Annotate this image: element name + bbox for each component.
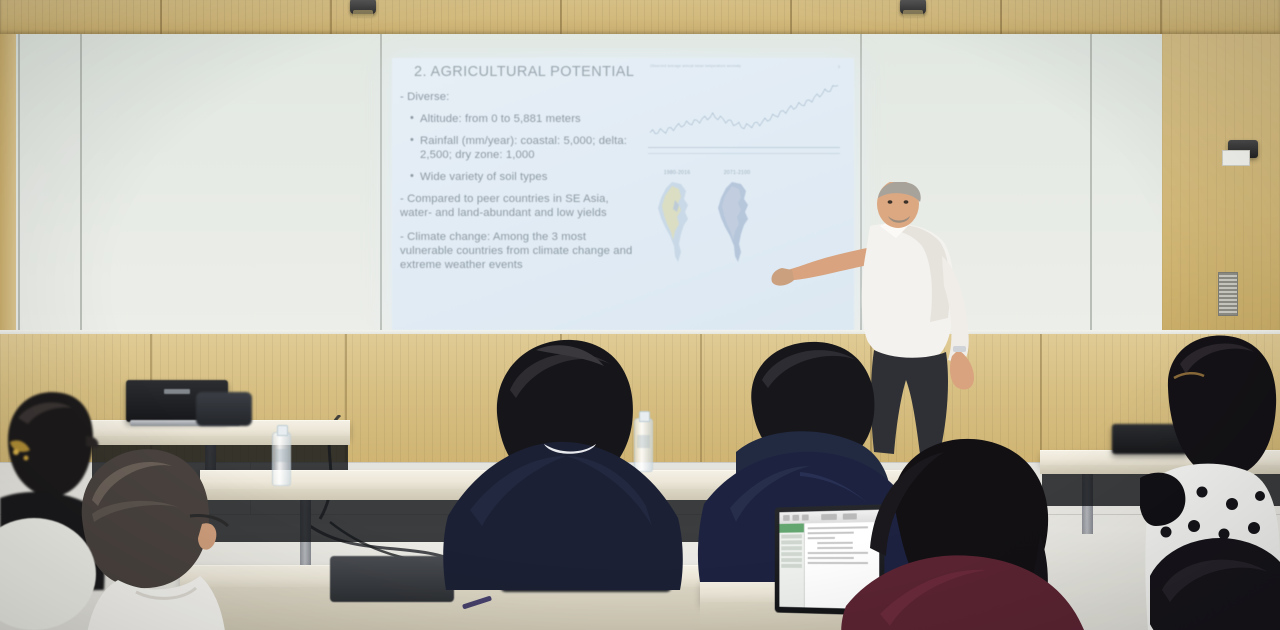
slide-line-4: - Compared to peer countries in SE Asia,… (400, 192, 638, 220)
slide-page-number: 3 (838, 64, 840, 69)
wall-edge-left (0, 34, 16, 334)
laptop-logo-icon (164, 389, 190, 394)
map-shape-icon (708, 178, 766, 268)
desk-front-apron (180, 587, 740, 630)
slide-heading: 2. AGRICULTURAL POTENTIAL (414, 64, 634, 80)
attendee-far-right-foreground-head (1150, 528, 1280, 630)
chair-back-left (196, 392, 252, 426)
wood-panel-top (0, 0, 1280, 34)
slide-body: - Diverse: Altitude: from 0 to 5,881 met… (398, 90, 638, 282)
laptop-sidebar-header (779, 523, 803, 532)
slide-line-3: Wide variety of soil types (410, 170, 638, 184)
slide-line-5: - Climate change: Among the 3 most vulne… (400, 230, 638, 272)
water-bottle-left[interactable] (272, 432, 291, 486)
slide-chart-line (644, 74, 844, 148)
attendee-center-suit (440, 330, 690, 590)
wall-vent-icon (1218, 272, 1238, 316)
attendee-front-right-woman (840, 438, 1090, 630)
tablet-on-front-desk[interactable] (330, 556, 454, 602)
ceiling-mount-left-icon (350, 0, 376, 14)
slide-map-label-0: 1980-2016 (648, 170, 706, 176)
slide-map-label-1: 2071-2100 (708, 170, 766, 176)
map-shape-icon (648, 178, 706, 268)
slide-chart: Observed average annual mean temperature… (644, 64, 844, 164)
slide-chart-title: Observed average annual mean temperature… (650, 64, 741, 68)
laptop-app-sidebar[interactable] (779, 523, 804, 607)
attendee-left-edge-head (0, 500, 110, 630)
slide-map-projected: 2071-2100 (708, 170, 766, 268)
wall-speaker-icon (1228, 140, 1258, 158)
lecture-hall-photo: 2. AGRICULTURAL POTENTIAL - Diverse: Alt… (0, 0, 1280, 630)
slide-map-historical: 1980-2016 (648, 170, 706, 268)
slide-line-2: Rainfall (mm/year): coastal: 5,000; delt… (410, 134, 638, 162)
slide-line-0: - Diverse: (400, 90, 638, 104)
slide-line-1: Altitude: from 0 to 5,881 meters (410, 112, 638, 126)
ceiling-mount-right-icon (900, 0, 926, 14)
